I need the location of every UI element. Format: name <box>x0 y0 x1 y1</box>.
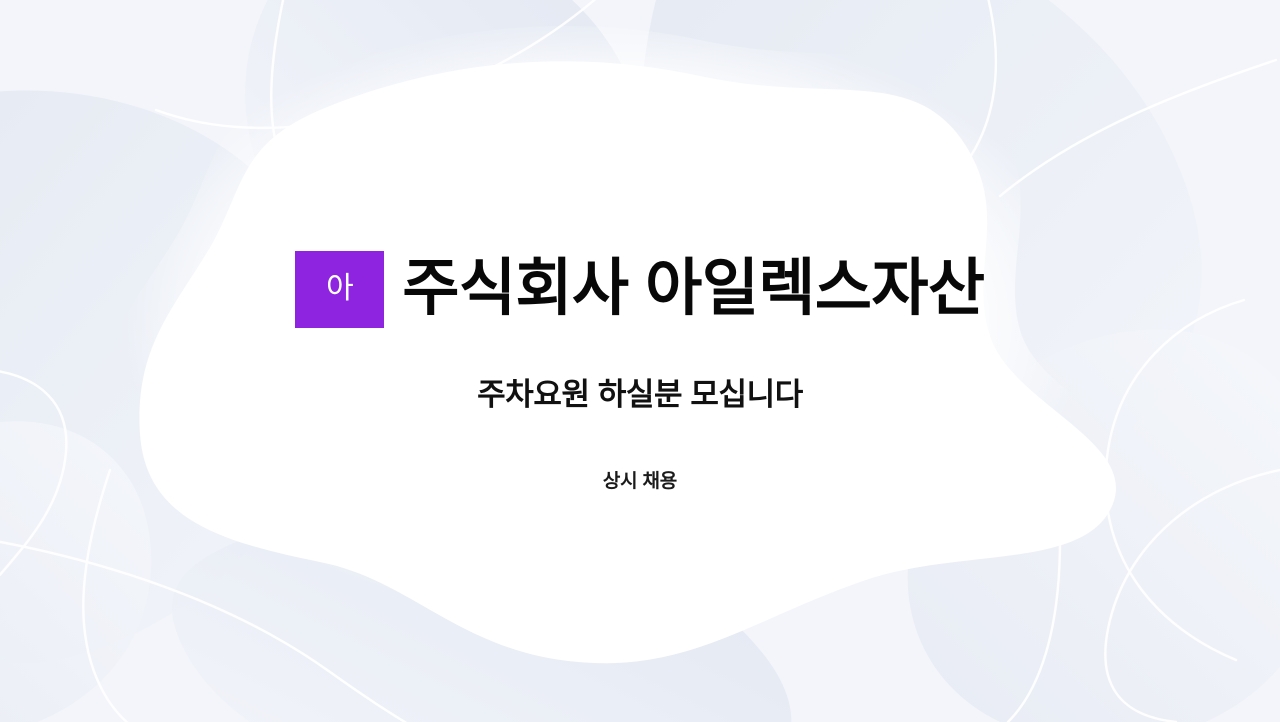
company-logo-badge: 아 <box>295 251 384 328</box>
company-title-row: 아 주식회사 아일렉스자산 <box>295 247 984 331</box>
hiring-status-badge: 상시 채용 <box>603 471 677 494</box>
poster-content: 아 주식회사 아일렉스자산 주차요원 하실분 모십니다 상시 채용 <box>0 0 1280 722</box>
job-title: 주차요원 하실분 모십니다 <box>477 376 803 413</box>
job-posting-poster: 아 주식회사 아일렉스자산 주차요원 하실분 모십니다 상시 채용 <box>0 0 1280 722</box>
company-logo-initial: 아 <box>326 274 354 304</box>
company-name: 주식회사 아일렉스자산 <box>402 256 984 322</box>
